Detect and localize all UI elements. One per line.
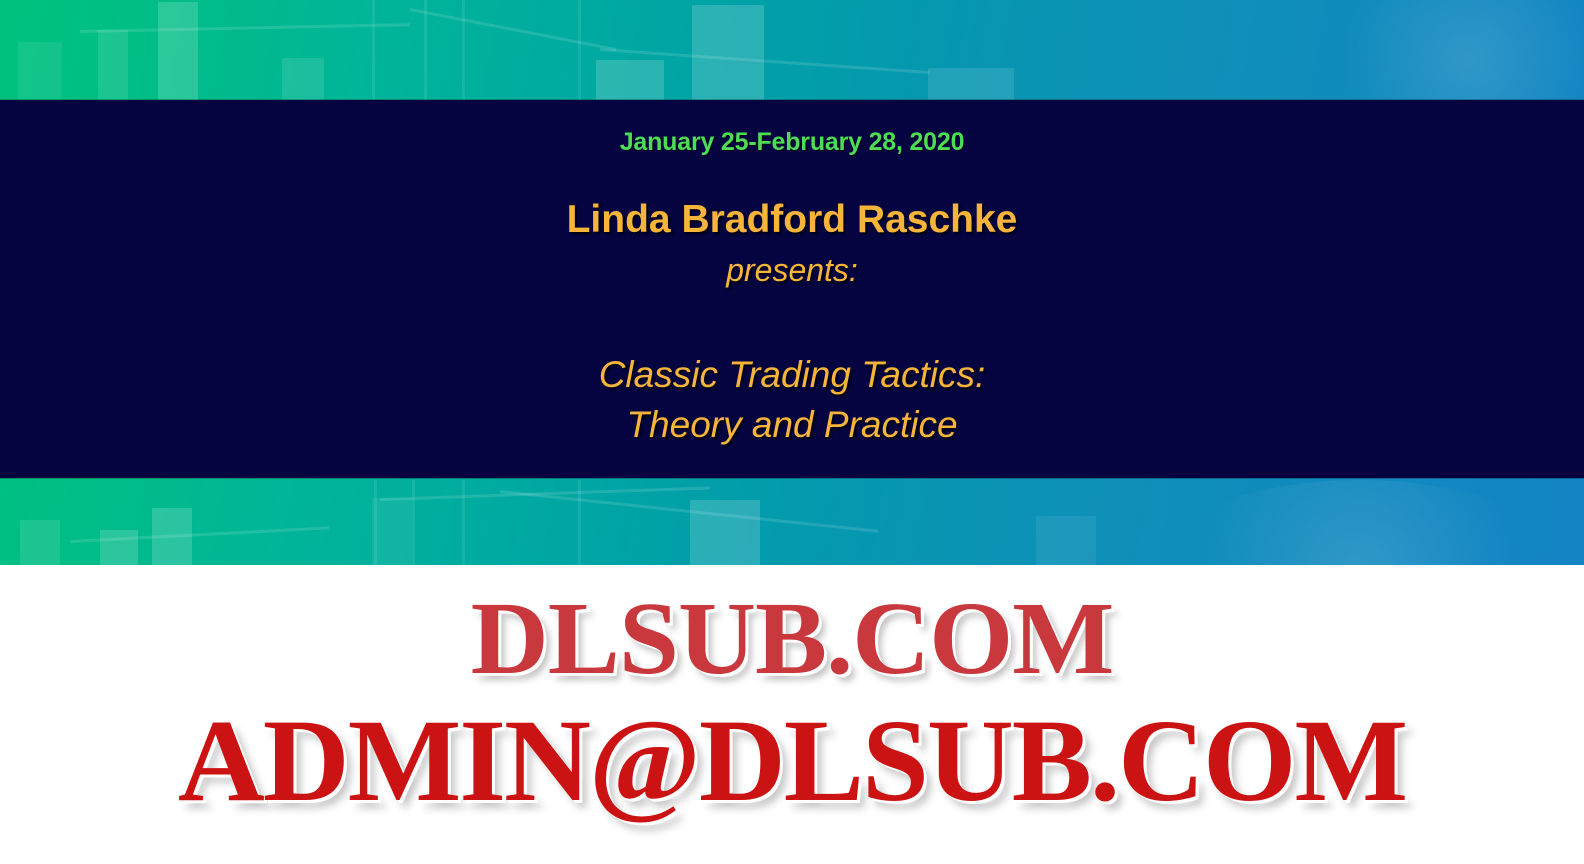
presents-label: presents:: [0, 252, 1584, 289]
event-date: January 25-February 28, 2020: [0, 128, 1584, 157]
banner-bar-decor: [100, 530, 138, 565]
banner-bar-decor: [596, 60, 664, 100]
banner-gridline-decor: [462, 480, 465, 565]
banner-bar-decor: [372, 498, 412, 565]
banner-bar-decor: [158, 2, 198, 100]
banner-trendline-decor: [410, 8, 617, 51]
watermark-site: DLSUB.COM: [0, 579, 1584, 698]
banner-gridline-decor: [462, 0, 465, 100]
banner-bar-decor: [98, 30, 128, 100]
presenter-name: Linda Bradford Raschke: [0, 198, 1584, 242]
talk-title-line-2: Theory and Practice: [0, 400, 1584, 450]
banner-glow-decor: [1150, 480, 1570, 565]
banner-gridline-decor: [578, 0, 581, 100]
watermark-email: ADMIN@DLSUB.COM: [0, 693, 1584, 829]
header-banner: January 25-February 28, 2020 Linda Bradf…: [0, 0, 1584, 565]
watermark-area: DLSUB.COM ADMIN@DLSUB.COM: [0, 565, 1584, 864]
talk-title-line-1: Classic Trading Tactics:: [0, 350, 1584, 400]
banner-bar-decor: [928, 68, 1014, 100]
banner-gridline-decor: [374, 480, 377, 565]
banner-bar-decor: [1036, 516, 1096, 565]
title-band: January 25-February 28, 2020 Linda Bradf…: [0, 100, 1584, 478]
banner-trendline-decor: [80, 23, 410, 33]
banner-bar-decor: [18, 42, 62, 100]
talk-title: Classic Trading Tactics: Theory and Prac…: [0, 350, 1584, 450]
banner-gridline-decor: [412, 480, 415, 565]
banner-bar-decor: [692, 5, 764, 100]
banner-gridline-decor: [424, 0, 427, 100]
banner-bar-decor: [20, 520, 60, 565]
banner-bar-decor: [690, 500, 760, 565]
banner-bar-decor: [282, 58, 324, 100]
banner-trendline-decor: [500, 490, 878, 533]
banner-gridline-decor: [372, 0, 375, 100]
